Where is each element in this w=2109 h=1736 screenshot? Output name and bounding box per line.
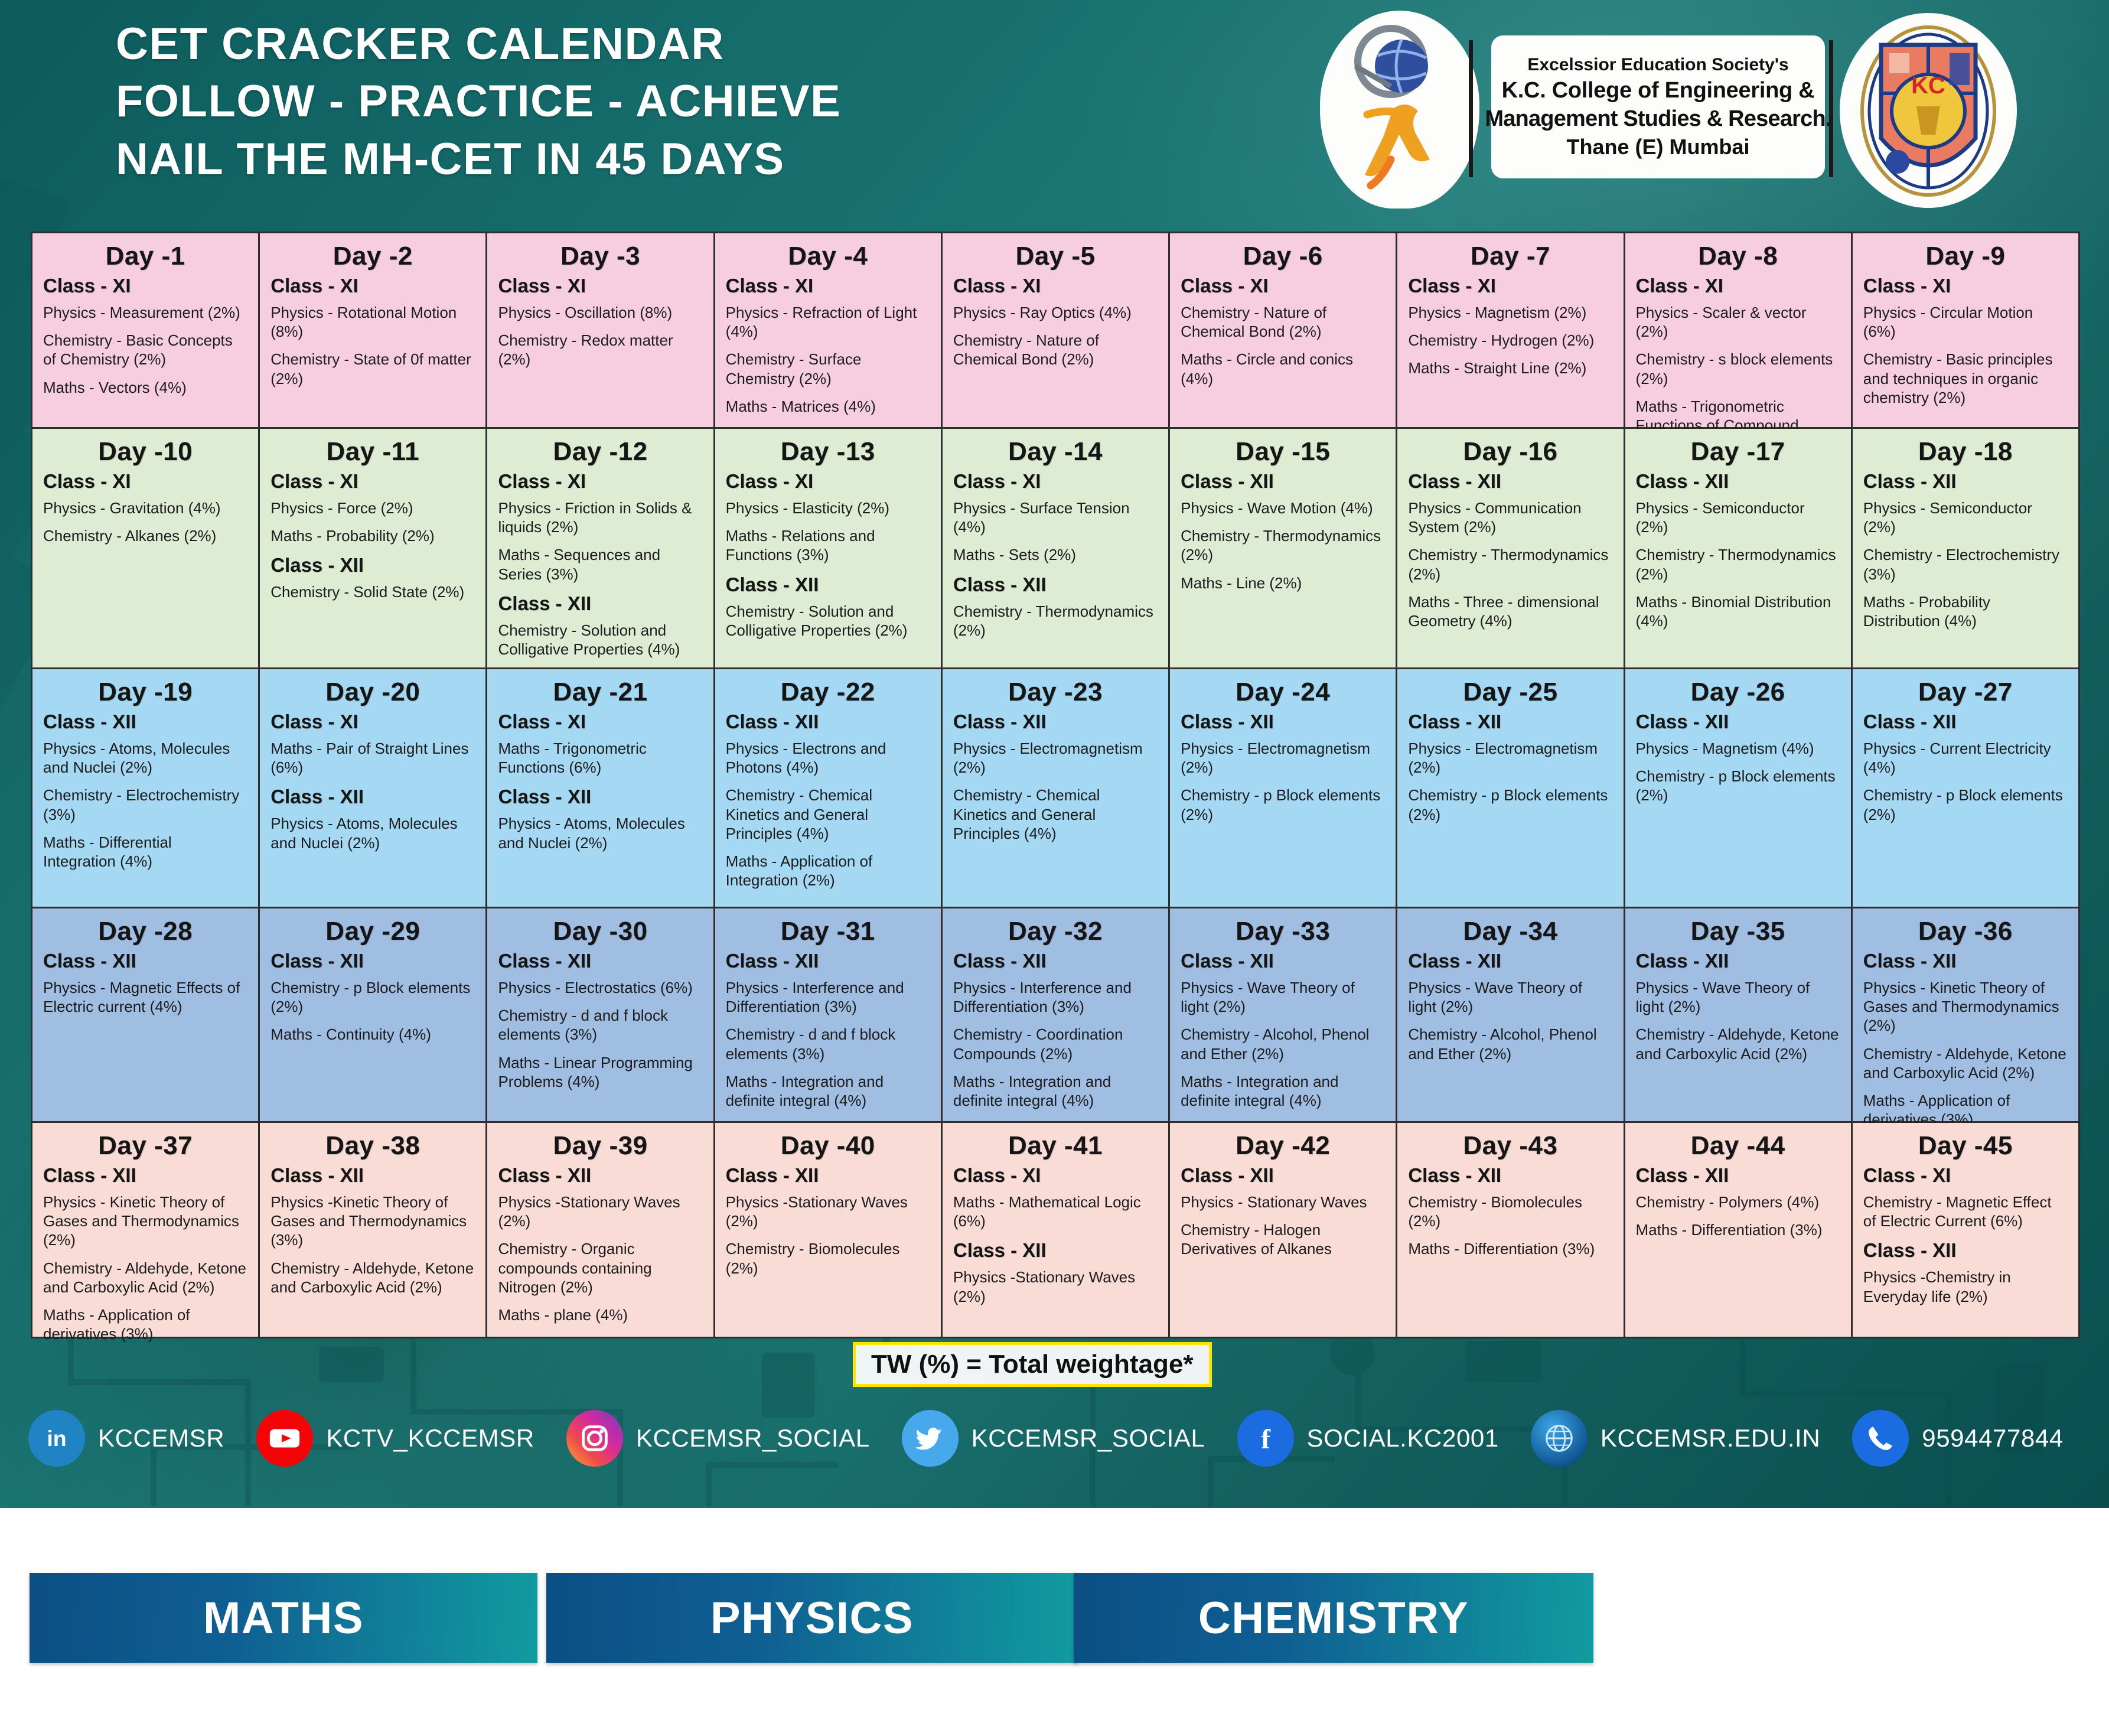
- topic-entry: Chemistry - Thermodynamics (2%): [1408, 545, 1612, 583]
- day-card[interactable]: Day -17Class - XIIPhysics - Semiconducto…: [1625, 429, 1851, 667]
- class-label: Class - XI: [270, 470, 475, 493]
- day-card[interactable]: Day -38Class - XIIPhysics -Kinetic Theor…: [260, 1123, 485, 1337]
- day-card-title: Day -9: [1863, 242, 2068, 271]
- topic-entry: Physics - Atoms, Molecules and Nuclei (2…: [43, 739, 247, 777]
- subject-bar-maths[interactable]: MATHS: [30, 1573, 537, 1663]
- topic-entry: Chemistry - Aldehyde, Ketone and Carboxy…: [1636, 1025, 1840, 1063]
- class-label: Class - XII: [43, 1164, 247, 1187]
- topic-entry: Maths - Vectors (4%): [43, 378, 247, 397]
- topic-entry: Chemistry - s block elements (2%): [1636, 350, 1840, 387]
- day-card-title: Day -12: [498, 437, 702, 467]
- topic-entry: Chemistry - Solution and Colligative Pro…: [726, 602, 930, 640]
- class-label: Class - XII: [1863, 1239, 2068, 1262]
- topic-entry: Maths - Probability Distribution (4%): [1863, 592, 2068, 630]
- day-card-title: Day -41: [953, 1131, 1158, 1161]
- class-label: Class - XII: [953, 1239, 1158, 1262]
- topic-entry: Maths - Three - dimensional Geometry (4%…: [1408, 592, 1612, 630]
- day-card[interactable]: Day -28Class - XIIPhysics - Magnetic Eff…: [32, 908, 258, 1121]
- class-label: Class - XII: [270, 554, 475, 577]
- topic-entry: Chemistry - Nature of Chemical Bond (2%): [1181, 303, 1385, 341]
- day-card[interactable]: Day -12Class - XIPhysics - Friction in S…: [487, 429, 713, 667]
- day-card-title: Day -26: [1636, 678, 1840, 707]
- day-card-title: Day -15: [1181, 437, 1385, 467]
- day-card-title: Day -29: [270, 917, 475, 946]
- topic-entry: Maths - Sets (2%): [953, 545, 1158, 564]
- topic-entry: Chemistry - p Block elements (2%): [1181, 786, 1385, 823]
- topic-entry: Physics - Circular Motion (6%): [1863, 303, 2068, 341]
- globe-icon[interactable]: [1531, 1410, 1588, 1467]
- class-label: Class - XII: [270, 786, 475, 808]
- topic-entry: Physics - Wave Theory of light (2%): [1636, 978, 1840, 1016]
- day-card[interactable]: Day -21Class - XIMaths - Trigonometric F…: [487, 669, 713, 907]
- day-card-title: Day -44: [1636, 1131, 1840, 1161]
- class-label: Class - XII: [43, 711, 247, 733]
- topic-entry: Maths - Differential Integration (4%): [43, 833, 247, 871]
- class-label: Class - XI: [1636, 275, 1840, 297]
- day-card-title: Day -35: [1636, 917, 1840, 946]
- topic-entry: Chemistry - Biomolecules (2%): [1408, 1193, 1612, 1230]
- day-card[interactable]: Day -15Class - XIIPhysics - Wave Motion …: [1170, 429, 1396, 667]
- day-card[interactable]: Day -27Class - XIIPhysics - Current Elec…: [1853, 669, 2078, 907]
- topic-entry: Physics - Friction in Solids & liquids (…: [498, 499, 702, 536]
- social-handle-label: KCCEMSR.EDU.IN: [1601, 1424, 1820, 1452]
- class-label: Class - XII: [270, 1164, 475, 1187]
- social-handle-label: 9594477844: [1922, 1424, 2064, 1452]
- day-card[interactable]: Day -45Class - XIChemistry - Magnetic Ef…: [1853, 1123, 2078, 1337]
- topic-entry: Physics - Magnetism (2%): [1408, 303, 1612, 322]
- topic-entry: Physics - Electromagnetism (2%): [1408, 739, 1612, 777]
- day-card[interactable]: Day -36Class - XIIPhysics - Kinetic Theo…: [1853, 908, 2078, 1121]
- class-label: Class - XI: [498, 470, 702, 493]
- class-label: Class - XII: [953, 950, 1158, 972]
- day-card[interactable]: Day -10Class - XIPhysics - Gravitation (…: [32, 429, 258, 667]
- topic-entry: Chemistry - Aldehyde, Ketone and Carboxy…: [43, 1259, 247, 1297]
- subject-bar-strip: MATHS PHYSICS CHEMISTRY: [0, 1508, 2109, 1736]
- day-card-title: Day -39: [498, 1131, 702, 1161]
- topic-entry: Chemistry - Aldehyde, Ketone and Carboxy…: [1863, 1044, 2068, 1082]
- topic-entry: Chemistry - p Block elements (2%): [1408, 786, 1612, 823]
- topic-entry: Physics - Wave Motion (4%): [1181, 499, 1385, 517]
- class-label: Class - XI: [1863, 1164, 2068, 1187]
- day-card[interactable]: Day -18Class - XIIPhysics - Semiconducto…: [1853, 429, 2078, 667]
- class-label: Class - XII: [1408, 1164, 1612, 1187]
- subject-bar-chemistry[interactable]: CHEMISTRY: [1074, 1573, 1593, 1663]
- day-card[interactable]: Day -44Class - XIIChemistry - Polymers (…: [1625, 1123, 1851, 1337]
- topic-entry: Physics - Atoms, Molecules and Nuclei (2…: [498, 814, 702, 852]
- day-card-title: Day -40: [726, 1131, 930, 1161]
- topic-entry: Chemistry - Electrochemistry (3%): [1863, 545, 2068, 583]
- logo-college-line-1: K.C. College of Engineering &: [1502, 78, 1815, 103]
- day-card-title: Day -3: [498, 242, 702, 271]
- class-label: Class - XI: [726, 470, 930, 493]
- calendar-row: Day -37Class - XIIPhysics - Kinetic Theo…: [32, 1123, 2078, 1337]
- institution-logo: Excelssior Education Society's K.C. Coll…: [1314, 5, 2082, 217]
- class-label: Class - XII: [1408, 470, 1612, 493]
- topic-entry: Chemistry - Hydrogen (2%): [1408, 331, 1612, 350]
- topic-entry: Chemistry - Aldehyde, Ketone and Carboxy…: [270, 1259, 475, 1297]
- topic-entry: Physics - Electrostatics (6%): [498, 978, 702, 997]
- topic-entry: Maths - Differentiation (3%): [1636, 1220, 1840, 1239]
- class-label: Class - XI: [953, 470, 1158, 493]
- day-card[interactable]: Day -24Class - XIIPhysics - Electromagne…: [1170, 669, 1396, 907]
- day-card-title: Day -13: [726, 437, 930, 467]
- day-card[interactable]: Day -37Class - XIIPhysics - Kinetic Theo…: [32, 1123, 258, 1337]
- topic-entry: Chemistry - Halogen Derivatives of Alkan…: [1181, 1220, 1385, 1258]
- instagram-icon[interactable]: [566, 1410, 623, 1467]
- calendar-row: Day -28Class - XIIPhysics - Magnetic Eff…: [32, 908, 2078, 1121]
- logo-divider-right: [1829, 40, 1833, 177]
- class-label: Class - XII: [1863, 470, 2068, 493]
- topic-entry: Maths - Differentiation (3%): [1408, 1239, 1612, 1258]
- day-card-title: Day -38: [270, 1131, 475, 1161]
- topic-entry: Physics - Elasticity (2%): [726, 499, 930, 517]
- total-weightage-legend: TW (%) = Total weightage*: [853, 1342, 1212, 1387]
- day-card[interactable]: Day -20Class - XIMaths - Pair of Straigh…: [260, 669, 485, 907]
- logo-college-line-2: Management Studies & Research.: [1485, 106, 1831, 132]
- day-card[interactable]: Day -5Class - XIPhysics - Ray Optics (4%…: [943, 233, 1168, 427]
- day-card-title: Day -42: [1181, 1131, 1385, 1161]
- topic-entry: Physics -Chemistry in Everyday life (2%): [1863, 1268, 2068, 1305]
- topic-entry: Chemistry - d and f block elements (3%): [726, 1025, 930, 1063]
- day-card[interactable]: Day -11Class - XIPhysics - Force (2%)Mat…: [260, 429, 485, 667]
- logo-society-name: Excelssior Education Society's: [1527, 55, 1788, 75]
- topic-entry: Physics - Communication System (2%): [1408, 499, 1612, 536]
- class-label: Class - XI: [498, 711, 702, 733]
- day-card-title: Day -30: [498, 917, 702, 946]
- day-card[interactable]: Day -3Class - XIPhysics - Oscillation (8…: [487, 233, 713, 427]
- day-card[interactable]: Day -22Class - XIIPhysics - Electrons an…: [715, 669, 941, 907]
- calendar-row: Day -1Class - XIPhysics - Measurement (2…: [32, 233, 2078, 427]
- phone-icon[interactable]: [1852, 1410, 1909, 1467]
- topic-entry: Maths - Circle and conics (4%): [1181, 350, 1385, 387]
- topic-entry: Physics - Interference and Differentiati…: [953, 978, 1158, 1016]
- topic-entry: Physics -Stationary Waves (2%): [953, 1268, 1158, 1305]
- day-card-title: Day -11: [270, 437, 475, 467]
- day-card[interactable]: Day -30Class - XIIPhysics - Electrostati…: [487, 908, 713, 1121]
- topic-entry: Physics - Semiconductor (2%): [1636, 499, 1840, 536]
- topic-entry: Chemistry - Coordination Compounds (2%): [953, 1025, 1158, 1063]
- topic-entry: Maths - plane (4%): [498, 1305, 702, 1324]
- class-label: Class - XI: [270, 275, 475, 297]
- class-label: Class - XII: [726, 1164, 930, 1187]
- day-card-title: Day -20: [270, 678, 475, 707]
- class-label: Class - XII: [953, 574, 1158, 596]
- subject-bar-physics[interactable]: PHYSICS: [546, 1573, 1078, 1663]
- topic-entry: Chemistry - Magnetic Effect of Electric …: [1863, 1193, 2068, 1230]
- class-label: Class - XII: [498, 1164, 702, 1187]
- college-crest-icon: KC: [1853, 22, 2004, 200]
- day-card-title: Day -2: [270, 242, 475, 271]
- svg-text:KC: KC: [1911, 73, 1945, 99]
- day-card[interactable]: Day -14Class - XIPhysics - Surface Tensi…: [943, 429, 1168, 667]
- class-label: Class - XII: [726, 574, 930, 596]
- topic-entry: Physics - Magnetism (4%): [1636, 739, 1840, 758]
- class-label: Class - XI: [43, 470, 247, 493]
- class-label: Class - XII: [1181, 1164, 1385, 1187]
- day-card-title: Day -6: [1181, 242, 1385, 271]
- poster-background: CET CRACKER CALENDAR FOLLOW - PRACTICE -…: [0, 0, 2109, 1508]
- topic-entry: Physics - Current Electricity (4%): [1863, 739, 2068, 777]
- day-card-title: Day -8: [1636, 242, 1840, 271]
- social-handle-label: KCCEMSR: [98, 1424, 224, 1452]
- day-card[interactable]: Day -32Class - XIIPhysics - Interference…: [943, 908, 1168, 1121]
- class-label: Class - XII: [953, 711, 1158, 733]
- day-card[interactable]: Day -19Class - XIIPhysics - Atoms, Molec…: [32, 669, 258, 907]
- day-card[interactable]: Day -26Class - XIIPhysics - Magnetism (4…: [1625, 669, 1851, 907]
- topic-entry: Physics - Oscillation (8%): [498, 303, 702, 322]
- day-card-title: Day -23: [953, 678, 1158, 707]
- topic-entry: Maths - Probability (2%): [270, 526, 475, 545]
- globe-runner-icon: [1332, 20, 1468, 197]
- class-label: Class - XII: [43, 950, 247, 972]
- topic-entry: Chemistry - Thermodynamics (2%): [1181, 526, 1385, 564]
- title-line-1: CET CRACKER CALENDAR: [116, 15, 841, 73]
- topic-entry: Chemistry - Organic compounds containing…: [498, 1239, 702, 1297]
- day-card[interactable]: Day -41Class - XIMaths - Mathematical Lo…: [943, 1123, 1168, 1337]
- social-link-twitter[interactable]: KCCEMSR_SOCIAL: [902, 1410, 1205, 1467]
- day-card-title: Day -14: [953, 437, 1158, 467]
- topic-entry: Physics - Ray Optics (4%): [953, 303, 1158, 322]
- class-label: Class - XII: [1636, 1164, 1840, 1187]
- day-card[interactable]: Day -16Class - XIIPhysics - Communicatio…: [1397, 429, 1623, 667]
- day-card[interactable]: Day -25Class - XIIPhysics - Electromagne…: [1397, 669, 1623, 907]
- day-card[interactable]: Day -6Class - XIChemistry - Nature of Ch…: [1170, 233, 1396, 427]
- class-label: Class - XI: [726, 275, 930, 297]
- class-label: Class - XII: [1636, 711, 1840, 733]
- day-card-title: Day -5: [953, 242, 1158, 271]
- day-card-title: Day -37: [43, 1131, 247, 1161]
- topic-entry: Maths - Integration and definite integra…: [953, 1072, 1158, 1110]
- class-label: Class - XI: [1181, 275, 1385, 297]
- facebook-icon[interactable]: f: [1237, 1410, 1294, 1467]
- topic-entry: Chemistry - Redox matter (2%): [498, 331, 702, 369]
- class-label: Class - XII: [726, 950, 930, 972]
- topic-entry: Physics - Kinetic Theory of Gases and Th…: [43, 1193, 247, 1250]
- day-card-title: Day -7: [1408, 242, 1612, 271]
- social-link-youtube[interactable]: KCTV_KCCEMSR: [256, 1410, 534, 1467]
- day-card[interactable]: Day -2Class - XIPhysics - Rotational Mot…: [260, 233, 485, 427]
- day-card[interactable]: Day -29Class - XIIChemistry - p Block el…: [260, 908, 485, 1121]
- topic-entry: Chemistry - d and f block elements (3%): [498, 1006, 702, 1044]
- social-link-facebook[interactable]: fSOCIAL.KC2001: [1237, 1410, 1499, 1467]
- class-label: Class - XII: [498, 950, 702, 972]
- topic-entry: Maths - Linear Programming Problems (4%): [498, 1053, 702, 1091]
- class-label: Class - XII: [1863, 950, 2068, 972]
- topic-entry: Maths - Matrices (4%): [726, 397, 930, 416]
- day-card[interactable]: Day -42Class - XIIPhysics - Stationary W…: [1170, 1123, 1396, 1337]
- social-handle-label: KCCEMSR_SOCIAL: [636, 1424, 870, 1452]
- topic-entry: Physics - Stationary Waves: [1181, 1193, 1385, 1211]
- topic-entry: Physics - Scaler & vector (2%): [1636, 303, 1840, 341]
- topic-entry: Chemistry - Solution and Colligative Pro…: [498, 621, 702, 659]
- day-card[interactable]: Day -40Class - XIIPhysics -Stationary Wa…: [715, 1123, 941, 1337]
- topic-entry: Chemistry - Basic Concepts of Chemistry …: [43, 331, 247, 369]
- topic-entry: Maths - Integration and definite integra…: [1181, 1072, 1385, 1110]
- topic-entry: Chemistry - Thermodynamics (2%): [1636, 545, 1840, 583]
- class-label: Class - XII: [726, 711, 930, 733]
- day-card-title: Day -27: [1863, 678, 2068, 707]
- day-card-title: Day -32: [953, 917, 1158, 946]
- svg-text:in: in: [47, 1426, 66, 1451]
- class-label: Class - XII: [1636, 470, 1840, 493]
- topic-entry: Maths - Mathematical Logic (6%): [953, 1193, 1158, 1230]
- class-label: Class - XII: [1636, 950, 1840, 972]
- logo-location: Thane (E) Mumbai: [1566, 135, 1749, 159]
- day-card[interactable]: Day -13Class - XIPhysics - Elasticity (2…: [715, 429, 941, 667]
- day-card[interactable]: Day -23Class - XIIPhysics - Electromagne…: [943, 669, 1168, 907]
- topic-entry: Physics - Kinetic Theory of Gases and Th…: [1863, 978, 2068, 1035]
- class-label: Class - XII: [1181, 950, 1385, 972]
- poster-title: CET CRACKER CALENDAR FOLLOW - PRACTICE -…: [116, 15, 841, 188]
- topic-entry: Physics - Surface Tension (4%): [953, 499, 1158, 536]
- day-card-title: Day -33: [1181, 917, 1385, 946]
- class-label: Class - XI: [43, 275, 247, 297]
- logo-text-card: Excelssior Education Society's K.C. Coll…: [1491, 35, 1825, 178]
- class-label: Class - XII: [1181, 470, 1385, 493]
- topic-entry: Physics - Semiconductor (2%): [1863, 499, 2068, 536]
- day-card[interactable]: Day -43Class - XIIChemistry - Biomolecul…: [1397, 1123, 1623, 1337]
- social-handle-label: SOCIAL.KC2001: [1307, 1424, 1499, 1452]
- topic-entry: Physics - Interference and Differentiati…: [726, 978, 930, 1016]
- topic-entry: Chemistry - Solid State (2%): [270, 582, 475, 601]
- calendar-grid: Day -1Class - XIPhysics - Measurement (2…: [31, 232, 2080, 1338]
- poster-header: CET CRACKER CALENDAR FOLLOW - PRACTICE -…: [0, 0, 2109, 230]
- topic-entry: Maths - Continuity (4%): [270, 1025, 475, 1044]
- topic-entry: Chemistry - Nature of Chemical Bond (2%): [953, 331, 1158, 369]
- topic-entry: Chemistry - State of 0f matter (2%): [270, 350, 475, 387]
- class-label: Class - XII: [1863, 711, 2068, 733]
- day-card[interactable]: Day -1Class - XIPhysics - Measurement (2…: [32, 233, 258, 427]
- topic-entry: Maths - Binomial Distribution (4%): [1636, 592, 1840, 630]
- day-card[interactable]: Day -4Class - XIPhysics - Refraction of …: [715, 233, 941, 427]
- topic-entry: Physics - Refraction of Light (4%): [726, 303, 930, 341]
- topic-entry: Chemistry - Electrochemistry (3%): [43, 786, 247, 823]
- topic-entry: Physics -Stationary Waves (2%): [498, 1193, 702, 1230]
- class-label: Class - XII: [1408, 711, 1612, 733]
- topic-entry: Chemistry - Alkanes (2%): [43, 526, 247, 545]
- topic-entry: Physics - Magnetic Effects of Electric c…: [43, 978, 247, 1016]
- title-line-2: FOLLOW - PRACTICE - ACHIEVE: [116, 73, 841, 130]
- topic-entry: Maths - Integration and definite integra…: [726, 1072, 930, 1110]
- calendar-row: Day -10Class - XIPhysics - Gravitation (…: [32, 429, 2078, 667]
- social-link-linkedin[interactable]: inKCCEMSR: [28, 1410, 224, 1467]
- topic-entry: Chemistry - Chemical Kinetics and Genera…: [726, 786, 930, 843]
- topic-entry: Physics - Electromagnetism (2%): [953, 739, 1158, 777]
- social-link-instagram[interactable]: KCCEMSR_SOCIAL: [566, 1410, 870, 1467]
- svg-text:f: f: [1261, 1424, 1271, 1455]
- day-card[interactable]: Day -35Class - XIIPhysics - Wave Theory …: [1625, 908, 1851, 1121]
- day-card-title: Day -31: [726, 917, 930, 946]
- topic-entry: Chemistry - p Block elements (2%): [1863, 786, 2068, 823]
- day-card[interactable]: Day -9Class - XIPhysics - Circular Motio…: [1853, 233, 2078, 427]
- day-card-title: Day -25: [1408, 678, 1612, 707]
- social-handle-label: KCCEMSR_SOCIAL: [972, 1424, 1205, 1452]
- social-link-phone[interactable]: 9594477844: [1852, 1410, 2064, 1467]
- topic-entry: Physics - Gravitation (4%): [43, 499, 247, 517]
- topic-entry: Chemistry - Surface Chemistry (2%): [726, 350, 930, 387]
- day-card[interactable]: Day -8Class - XIPhysics - Scaler & vecto…: [1625, 233, 1851, 427]
- twitter-icon[interactable]: [902, 1410, 959, 1467]
- topic-entry: Maths - Line (2%): [1181, 574, 1385, 592]
- topic-entry: Chemistry - Biomolecules (2%): [726, 1239, 930, 1277]
- topic-entry: Chemistry - p Block elements (2%): [270, 978, 475, 1016]
- day-card-title: Day -21: [498, 678, 702, 707]
- topic-entry: Maths - Straight Line (2%): [1408, 359, 1612, 377]
- day-card[interactable]: Day -7Class - XIPhysics - Magnetism (2%)…: [1397, 233, 1623, 427]
- topic-entry: Physics -Stationary Waves (2%): [726, 1193, 930, 1230]
- social-links-row: inKCCEMSRKCTV_KCCEMSRKCCEMSR_SOCIALKCCEM…: [28, 1400, 2095, 1477]
- day-card-title: Day -34: [1408, 917, 1612, 946]
- logo-divider-left: [1469, 40, 1473, 177]
- title-line-3: NAIL THE MH-CET IN 45 DAYS: [116, 131, 841, 188]
- day-card-title: Day -4: [726, 242, 930, 271]
- topic-entry: Maths - Trigonometric Functions (6%): [498, 739, 702, 777]
- class-label: Class - XII: [498, 592, 702, 615]
- linkedin-icon[interactable]: in: [28, 1410, 85, 1467]
- day-card[interactable]: Day -34Class - XIIPhysics - Wave Theory …: [1397, 908, 1623, 1121]
- topic-entry: Physics - Wave Theory of light (2%): [1408, 978, 1612, 1016]
- class-label: Class - XI: [953, 275, 1158, 297]
- day-card-title: Day -22: [726, 678, 930, 707]
- topic-entry: Maths - Pair of Straight Lines (6%): [270, 739, 475, 777]
- class-label: Class - XII: [270, 950, 475, 972]
- class-label: Class - XII: [498, 786, 702, 808]
- day-card-title: Day -24: [1181, 678, 1385, 707]
- topic-entry: Maths - Application of Integration (2%): [726, 852, 930, 890]
- topic-entry: Physics - Rotational Motion (8%): [270, 303, 475, 341]
- day-card-title: Day -1: [43, 242, 247, 271]
- topic-entry: Chemistry - Alcohol, Phenol and Ether (2…: [1408, 1025, 1612, 1063]
- topic-entry: Maths - Relations and Functions (3%): [726, 526, 930, 564]
- cet-cracker-calendar-poster: CET CRACKER CALENDAR FOLLOW - PRACTICE -…: [0, 0, 2109, 1736]
- day-card-title: Day -43: [1408, 1131, 1612, 1161]
- class-label: Class - XI: [953, 1164, 1158, 1187]
- class-label: Class - XI: [1408, 275, 1612, 297]
- day-card[interactable]: Day -33Class - XIIPhysics - Wave Theory …: [1170, 908, 1396, 1121]
- day-card-title: Day -17: [1636, 437, 1840, 467]
- social-handle-label: KCTV_KCCEMSR: [326, 1424, 534, 1452]
- day-card-title: Day -18: [1863, 437, 2068, 467]
- topic-entry: Chemistry - Polymers (4%): [1636, 1193, 1840, 1211]
- day-card-title: Day -19: [43, 678, 247, 707]
- topic-entry: Physics -Kinetic Theory of Gases and The…: [270, 1193, 475, 1250]
- youtube-icon[interactable]: [256, 1410, 313, 1467]
- class-label: Class - XII: [1408, 950, 1612, 972]
- day-card[interactable]: Day -39Class - XIIPhysics -Stationary Wa…: [487, 1123, 713, 1337]
- topic-entry: Physics - Wave Theory of light (2%): [1181, 978, 1385, 1016]
- day-card-title: Day -36: [1863, 917, 2068, 946]
- topic-entry: Chemistry - Chemical Kinetics and Genera…: [953, 786, 1158, 843]
- topic-entry: Physics - Atoms, Molecules and Nuclei (2…: [270, 814, 475, 852]
- day-card-title: Day -28: [43, 917, 247, 946]
- day-card-title: Day -10: [43, 437, 247, 467]
- day-card-title: Day -16: [1408, 437, 1612, 467]
- class-label: Class - XI: [498, 275, 702, 297]
- topic-entry: Physics - Electrons and Photons (4%): [726, 739, 930, 777]
- social-link-globe[interactable]: KCCEMSR.EDU.IN: [1531, 1410, 1820, 1467]
- topic-entry: Chemistry - Basic principles and techniq…: [1863, 350, 2068, 407]
- topic-entry: Chemistry - p Block elements (2%): [1636, 767, 1840, 805]
- calendar-row: Day -19Class - XIIPhysics - Atoms, Molec…: [32, 669, 2078, 907]
- topic-entry: Maths - Application of derivatives (3%): [43, 1305, 247, 1343]
- topic-entry: Maths - Sequences and Series (3%): [498, 545, 702, 583]
- topic-entry: Chemistry - Thermodynamics (2%): [953, 602, 1158, 640]
- day-card[interactable]: Day -31Class - XIIPhysics - Interference…: [715, 908, 941, 1121]
- topic-entry: Physics - Measurement (2%): [43, 303, 247, 322]
- topic-entry: Physics - Force (2%): [270, 499, 475, 517]
- topic-entry: Chemistry - Alcohol, Phenol and Ether (2…: [1181, 1025, 1385, 1063]
- class-label: Class - XI: [1863, 275, 2068, 297]
